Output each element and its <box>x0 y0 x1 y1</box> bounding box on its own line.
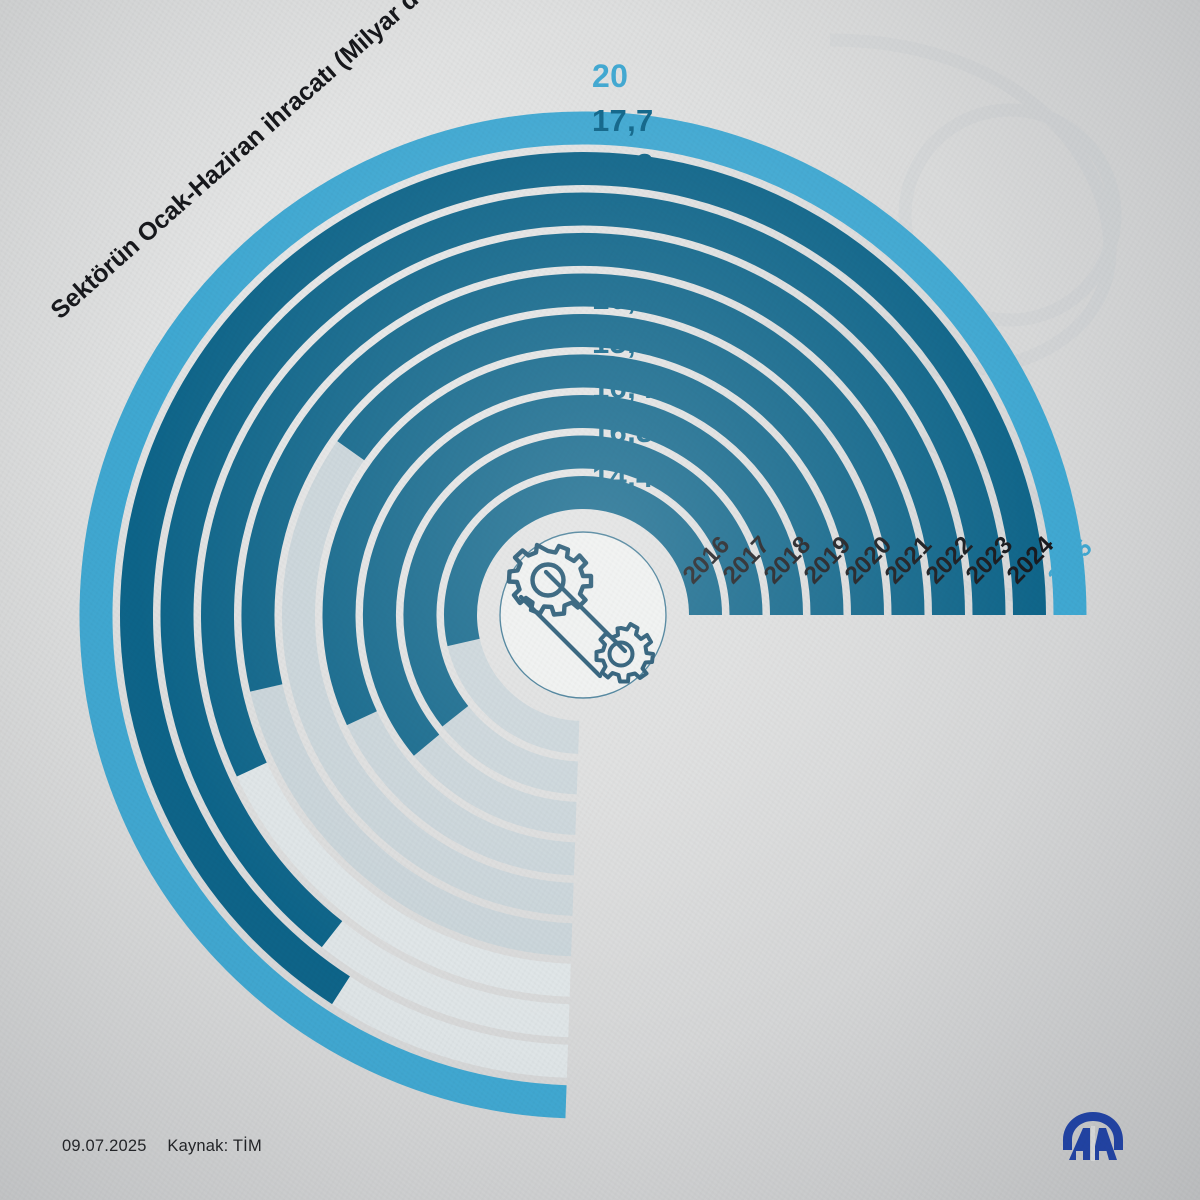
footer: 09.07.2025 Kaynak: TİM <box>62 1137 262 1156</box>
value-label: 17,3 <box>592 143 712 188</box>
value-label: 15,3 <box>592 188 712 233</box>
value-label: 16,4 <box>592 366 712 411</box>
footer-source: Kaynak: TİM <box>167 1137 262 1155</box>
value-label: 20 <box>592 54 712 99</box>
gear-belt-icon <box>499 531 667 699</box>
infographic-canvas: Sektörün Ocak-Haziran ihracatı (Milyar d… <box>0 0 1200 1200</box>
value-label: 17,7 <box>592 99 712 144</box>
value-label: 10,8 <box>592 277 712 322</box>
value-label: 16,3 <box>592 410 712 455</box>
value-label: 14,4 <box>592 455 712 500</box>
value-label: 14,4 <box>592 232 712 277</box>
aa-logo <box>1058 1110 1128 1164</box>
value-label-column: 2017,717,315,314,410,815,316,416,314,4 <box>592 54 712 499</box>
footer-date: 09.07.2025 <box>62 1137 147 1155</box>
value-label: 15,3 <box>592 321 712 366</box>
